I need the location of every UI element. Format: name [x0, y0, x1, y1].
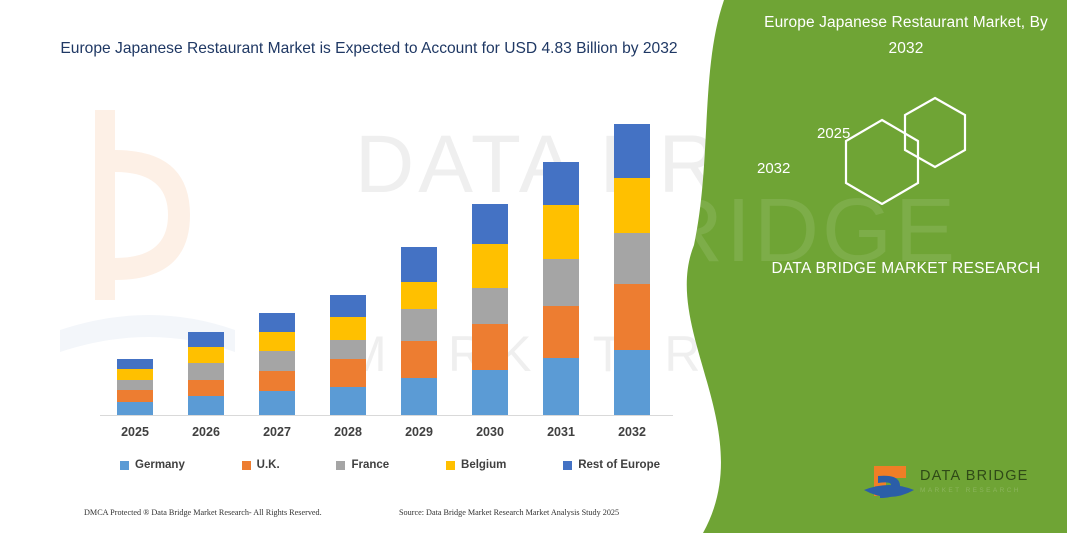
bar-segment-france: [330, 340, 366, 359]
stacked-bar-chart: [100, 120, 680, 416]
bar-2029: [401, 247, 437, 415]
x-axis-label-2030: 2030: [460, 425, 520, 439]
bar-2026: [188, 332, 224, 415]
x-axis-label-2028: 2028: [318, 425, 378, 439]
bar-segment-u-k: [330, 359, 366, 387]
bar-segment-france: [614, 233, 650, 285]
bar-segment-rest-of-europe: [259, 313, 295, 332]
bar-segment-u-k: [117, 390, 153, 403]
legend-label: France: [351, 459, 389, 471]
bar-2027: [259, 313, 295, 415]
bar-2025: [117, 359, 153, 415]
bar-2028: [330, 295, 366, 415]
legend-label: Germany: [135, 459, 185, 471]
x-axis-label-2031: 2031: [531, 425, 591, 439]
legend-label: Belgium: [461, 459, 506, 471]
bar-segment-rest-of-europe: [188, 332, 224, 347]
logo-subtitle: MARKET RESEARCH: [920, 487, 1021, 494]
bar-segment-rest-of-europe: [543, 162, 579, 206]
bar-segment-france: [543, 259, 579, 306]
bar-segment-u-k: [614, 284, 650, 349]
bar-segment-belgium: [614, 178, 650, 232]
bar-segment-germany: [614, 350, 650, 415]
bar-2030: [472, 204, 508, 415]
bar-segment-rest-of-europe: [401, 247, 437, 281]
bar-segment-france: [401, 309, 437, 341]
x-axis-label-2032: 2032: [602, 425, 662, 439]
panel-content: BRIDGE Europe Japanese Restaurant Market…: [745, 0, 1067, 533]
footer-copyright: DMCA Protected ® Data Bridge Market Rese…: [84, 508, 322, 517]
bar-segment-germany: [117, 402, 153, 415]
bar-2032: [614, 124, 650, 415]
bar-2031: [543, 162, 579, 415]
bar-segment-u-k: [543, 306, 579, 358]
bar-segment-rest-of-europe: [330, 295, 366, 317]
bar-segment-belgium: [543, 205, 579, 259]
legend-item-france[interactable]: France: [336, 459, 389, 471]
legend-item-germany[interactable]: Germany: [120, 459, 185, 471]
x-axis-label-2027: 2027: [247, 425, 307, 439]
bar-segment-france: [188, 363, 224, 379]
bar-segment-germany: [472, 370, 508, 415]
legend-swatch-icon: [120, 461, 129, 470]
bar-segment-rest-of-europe: [117, 359, 153, 369]
bar-segment-belgium: [117, 369, 153, 380]
bar-segment-belgium: [259, 332, 295, 351]
x-axis-label-2029: 2029: [389, 425, 449, 439]
bar-segment-rest-of-europe: [472, 204, 508, 244]
bar-segment-france: [472, 288, 508, 324]
bar-segment-france: [117, 380, 153, 390]
legend-label: Rest of Europe: [578, 459, 660, 471]
footer-source: Source: Data Bridge Market Research Mark…: [399, 508, 619, 517]
bar-segment-u-k: [401, 341, 437, 378]
x-axis-labels: 20252026202720282029203020312032: [100, 425, 680, 443]
panel-title: Europe Japanese Restaurant Market, By 20…: [745, 10, 1067, 62]
hexagon-icons: [840, 95, 990, 205]
bar-segment-belgium: [188, 347, 224, 363]
panel-brand-name: DATA BRIDGE MARKET RESEARCH: [745, 255, 1067, 283]
legend-label: U.K.: [257, 459, 280, 471]
bar-segment-belgium: [401, 282, 437, 309]
hexagon-label-2032: 2032: [757, 160, 790, 177]
data-bridge-logo: DATA BRIDGE MARKET RESEARCH: [862, 462, 1037, 510]
legend-swatch-icon: [563, 461, 572, 470]
hexagon-group: [840, 95, 990, 205]
chart-legend: GermanyU.K.FranceBelgiumRest of Europe: [120, 456, 660, 474]
bar-segment-u-k: [472, 324, 508, 369]
bar-segment-germany: [188, 396, 224, 415]
data-bridge-mark-icon: [862, 462, 918, 508]
bar-segment-u-k: [188, 380, 224, 396]
legend-item-rest-of-europe[interactable]: Rest of Europe: [563, 459, 660, 471]
hexagon-label-2025: 2025: [817, 125, 850, 142]
chart-plot-area: [100, 120, 680, 415]
logo-name: DATA BRIDGE: [920, 468, 1029, 484]
bar-segment-rest-of-europe: [614, 124, 650, 178]
bar-segment-u-k: [259, 371, 295, 391]
bar-segment-germany: [543, 358, 579, 415]
bar-segment-belgium: [330, 317, 366, 340]
legend-swatch-icon: [336, 461, 345, 470]
legend-item-belgium[interactable]: Belgium: [446, 459, 506, 471]
bar-segment-germany: [401, 378, 437, 415]
bar-segment-germany: [330, 387, 366, 415]
bar-segment-germany: [259, 391, 295, 416]
bar-segment-belgium: [472, 244, 508, 288]
x-axis-label-2026: 2026: [176, 425, 236, 439]
legend-swatch-icon: [242, 461, 251, 470]
infographic-root: DATA BRIDGE MARKET RESEARCH BRIDGE Europ…: [0, 0, 1067, 533]
legend-item-u-k[interactable]: U.K.: [242, 459, 280, 471]
bar-segment-france: [259, 351, 295, 370]
chart-title: Europe Japanese Restaurant Market is Exp…: [60, 36, 678, 61]
legend-swatch-icon: [446, 461, 455, 470]
x-axis-line: [100, 415, 673, 416]
x-axis-label-2025: 2025: [105, 425, 165, 439]
